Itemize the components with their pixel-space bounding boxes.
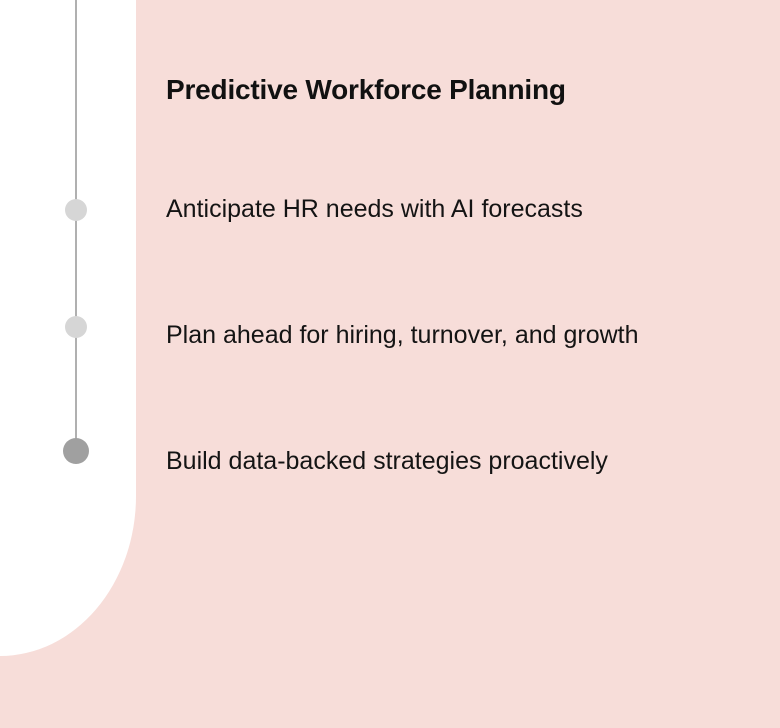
slide-canvas: Predictive Workforce Planning Anticipate… xyxy=(0,0,780,728)
page-title: Predictive Workforce Planning xyxy=(166,72,726,107)
bullet-item-2: Plan ahead for hiring, turnover, and gro… xyxy=(166,314,711,356)
content-column: Predictive Workforce Planning Anticipate… xyxy=(166,0,726,728)
bullet-item-1: Anticipate HR needs with AI forecasts xyxy=(166,188,711,230)
timeline-connector-line xyxy=(75,0,77,452)
timeline-dot-1[interactable] xyxy=(65,199,87,221)
timeline-dot-2[interactable] xyxy=(65,316,87,338)
timeline-dot-3[interactable] xyxy=(63,438,89,464)
bullet-item-3: Build data-backed strategies proactively xyxy=(166,440,711,482)
